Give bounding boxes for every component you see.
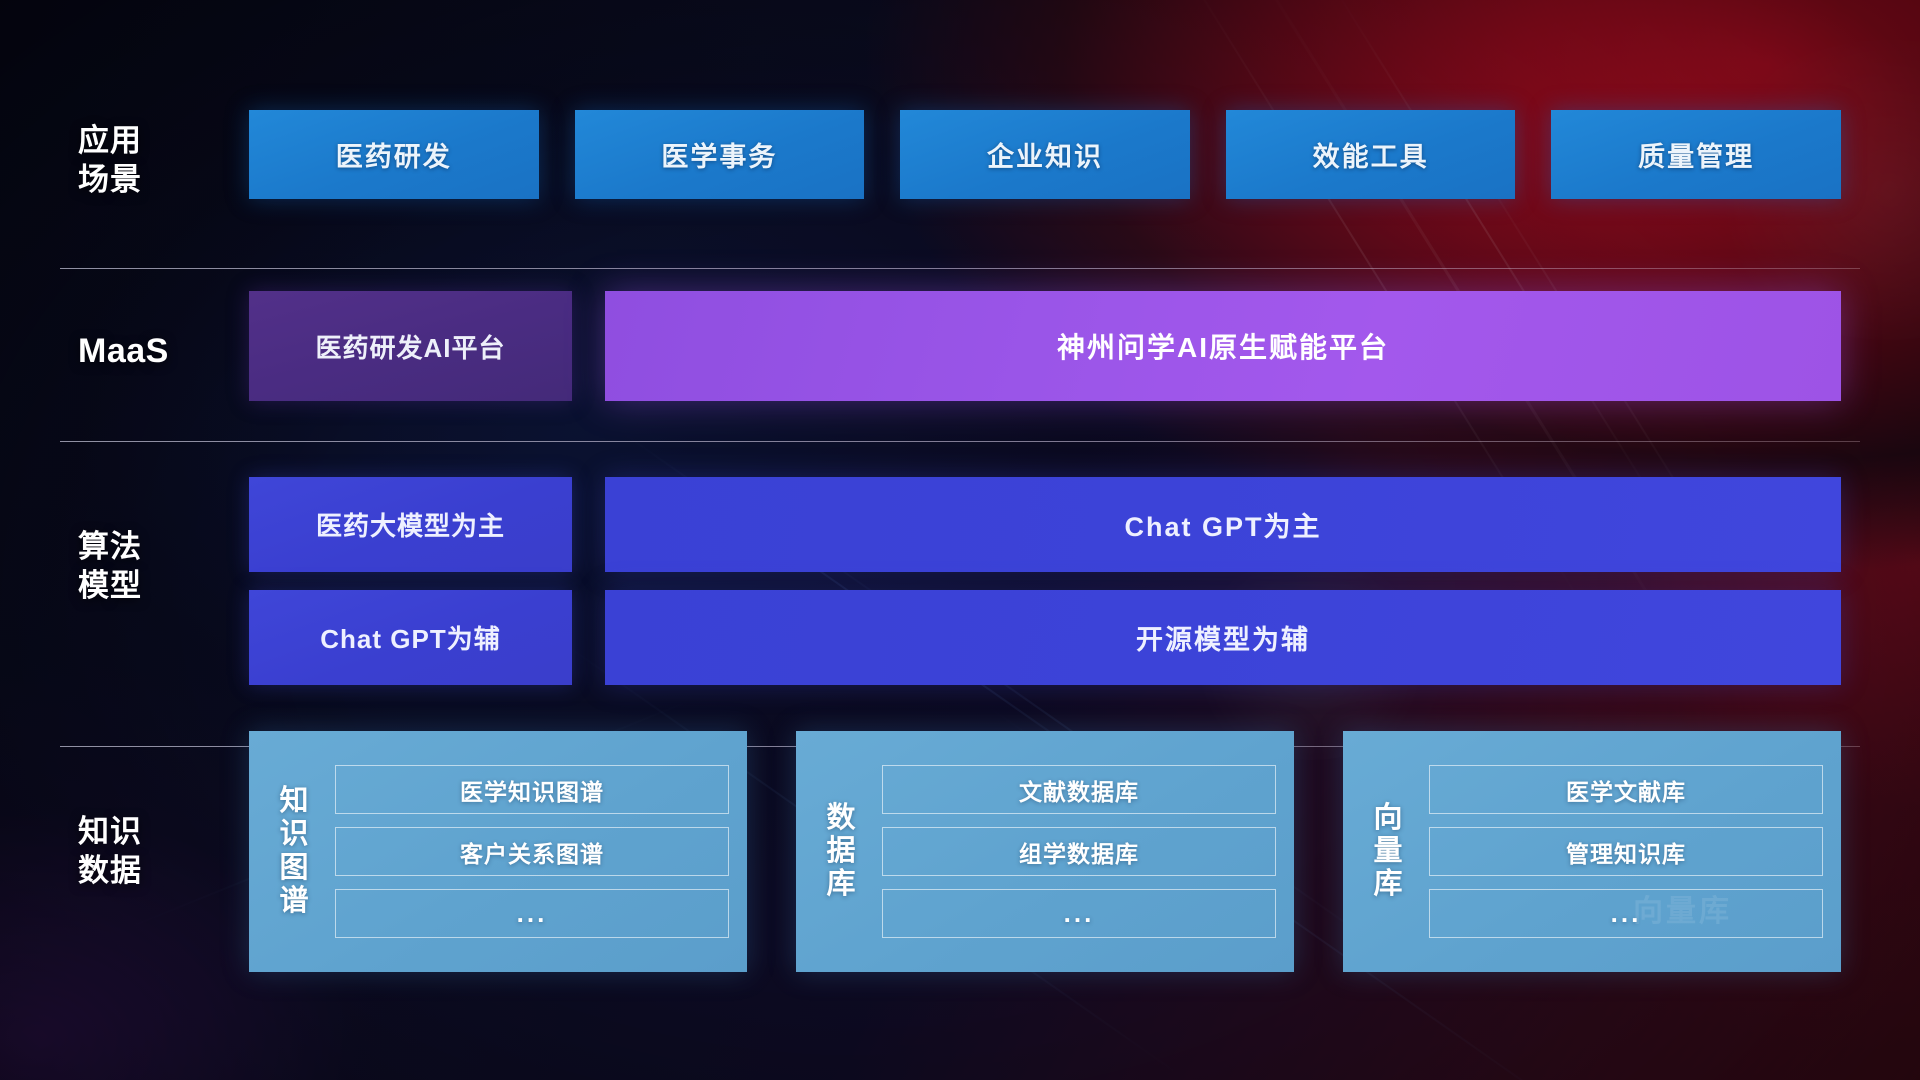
maas-box-pharma-ai-platform[interactable]: 医药研发AI平台 (249, 291, 572, 401)
app-box-enterprise-knowledge[interactable]: 企业知识 (900, 110, 1190, 199)
algo-box-opensource-secondary[interactable]: 开源模型为辅 (605, 590, 1841, 685)
app-box-quality-management[interactable]: 质量管理 (1551, 110, 1841, 199)
knowledge-item-more-knowledge-graph[interactable]: ... (335, 889, 729, 938)
knowledge-item-more-database[interactable]: ... (882, 889, 1276, 938)
app-box-medicine-rnd[interactable]: 医药研发 (249, 110, 539, 199)
knowledge-item-medical-knowledge-graph[interactable]: 医学知识图谱 (335, 765, 729, 814)
app-box-medical-affairs[interactable]: 医学事务 (575, 110, 865, 199)
layer-label-knowledge-data: 知识 数据 (78, 812, 198, 890)
architecture-diagram: 应用 场景 医药研发 医学事务 企业知识 效能工具 质量管理 MaaS 医药研发… (0, 0, 1920, 1080)
layer-label-application-scenarios: 应用 场景 (78, 121, 198, 199)
knowledge-item-management-knowledge-store[interactable]: 管理知识库 (1429, 827, 1823, 876)
knowledge-panel-vector-store[interactable]: 向量库 医学文献库 管理知识库 ... (1343, 731, 1841, 972)
algorithm-models-line-secondary: Chat GPT为辅 开源模型为辅 (249, 590, 1841, 685)
knowledge-panel-title-vector-store: 向量库 (1365, 802, 1411, 901)
app-box-efficiency-tools[interactable]: 效能工具 (1226, 110, 1516, 199)
divider-after-application-scenarios (60, 268, 1860, 269)
knowledge-data-row: 知识图谱 医学知识图谱 客户关系图谱 ... 数据库 文献数据库 组学数据库 .… (249, 731, 1841, 972)
knowledge-panel-title-knowledge-graph: 知识图谱 (271, 785, 317, 917)
algo-box-chatgpt-primary[interactable]: Chat GPT为主 (605, 477, 1841, 572)
knowledge-panel-items-database: 文献数据库 组学数据库 ... (882, 747, 1276, 956)
application-scenarios-row: 医药研发 医学事务 企业知识 效能工具 质量管理 (249, 110, 1841, 199)
knowledge-item-more-vector-store[interactable]: ... (1429, 889, 1823, 938)
knowledge-panel-knowledge-graph[interactable]: 知识图谱 医学知识图谱 客户关系图谱 ... (249, 731, 747, 972)
maas-box-shenzhou-wenxue-platform[interactable]: 神州问学AI原生赋能平台 (605, 291, 1841, 401)
knowledge-item-medical-literature-store[interactable]: 医学文献库 (1429, 765, 1823, 814)
algorithm-models-row: 医药大模型为主 Chat GPT为主 Chat GPT为辅 开源模型为辅 (249, 477, 1841, 686)
knowledge-item-literature-database[interactable]: 文献数据库 (882, 765, 1276, 814)
knowledge-panel-title-database: 数据库 (818, 802, 864, 901)
divider-after-maas (60, 441, 1860, 442)
knowledge-panel-database[interactable]: 数据库 文献数据库 组学数据库 ... (796, 731, 1294, 972)
knowledge-panel-items-vector-store: 医学文献库 管理知识库 ... (1429, 747, 1823, 956)
knowledge-item-customer-relation-graph[interactable]: 客户关系图谱 (335, 827, 729, 876)
knowledge-panel-items-knowledge-graph: 医学知识图谱 客户关系图谱 ... (335, 747, 729, 956)
layer-label-algorithm-models: 算法 模型 (78, 527, 198, 605)
layer-label-maas: MaaS (78, 330, 198, 373)
maas-row: 医药研发AI平台 神州问学AI原生赋能平台 (249, 291, 1841, 401)
algorithm-models-line-primary: 医药大模型为主 Chat GPT为主 (249, 477, 1841, 572)
algo-box-pharma-llm-primary[interactable]: 医药大模型为主 (249, 477, 572, 572)
knowledge-item-omics-database[interactable]: 组学数据库 (882, 827, 1276, 876)
algo-box-chatgpt-secondary[interactable]: Chat GPT为辅 (249, 590, 572, 685)
